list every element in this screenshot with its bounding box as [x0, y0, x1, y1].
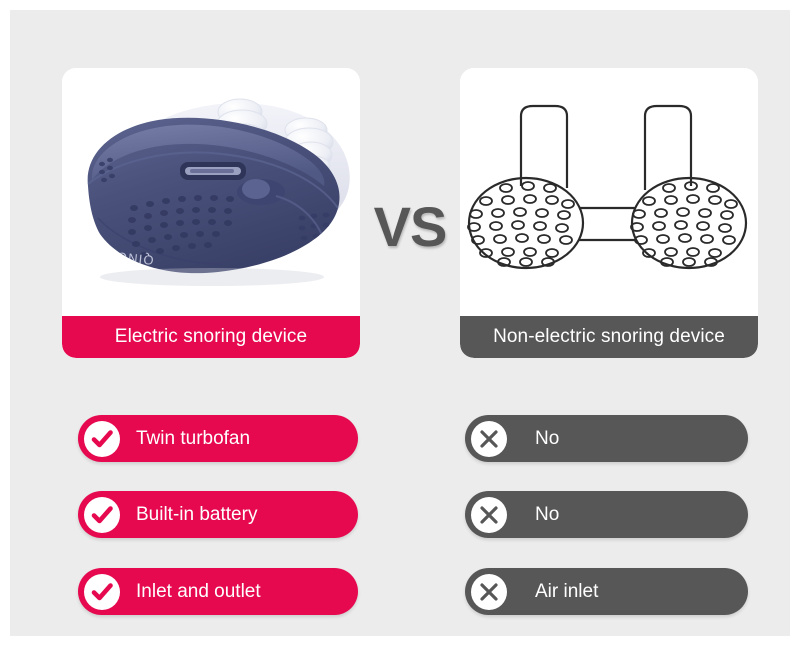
product-card-non-electric: Non-electric snoring device: [460, 68, 758, 358]
check-circle-icon: [84, 497, 120, 533]
check-circle-icon: [84, 574, 120, 610]
canvas: QINCHANG Electric snoring device VS: [10, 10, 790, 636]
feature-label: Twin turbofan: [136, 428, 250, 450]
dilator-stem-left: [521, 106, 567, 188]
card-label-electric: Electric snoring device: [62, 316, 360, 358]
electric-device-image: QINCHANG: [62, 68, 360, 316]
non-electric-device-image: [460, 68, 758, 316]
feature-pill-electric-3[interactable]: Inlet and outlet: [78, 568, 358, 615]
cross-circle-icon: [471, 497, 507, 533]
device-usb-port: [180, 162, 246, 180]
electric-device-illustration: QINCHANG: [62, 68, 360, 316]
feature-label: Air inlet: [535, 581, 598, 603]
device-power-button: [237, 179, 285, 205]
product-card-electric: QINCHANG Electric snoring device: [62, 68, 360, 358]
feature-label: No: [535, 428, 559, 450]
nasal-dilator-illustration: [460, 68, 758, 316]
device-shadow: [100, 268, 324, 286]
comparison-infographic: QINCHANG Electric snoring device VS: [0, 0, 800, 646]
feature-label: Inlet and outlet: [136, 581, 261, 603]
feature-label: No: [535, 504, 559, 526]
feature-pill-non-electric-3[interactable]: Air inlet: [465, 568, 748, 615]
cross-circle-icon: [471, 421, 507, 457]
feature-label: Built-in battery: [136, 504, 257, 526]
cross-circle-icon: [471, 574, 507, 610]
vs-divider: VS: [370, 194, 450, 259]
feature-pill-electric-1[interactable]: Twin turbofan: [78, 415, 358, 462]
feature-pill-electric-2[interactable]: Built-in battery: [78, 491, 358, 538]
feature-pill-non-electric-1[interactable]: No: [465, 415, 748, 462]
card-label-non-electric: Non-electric snoring device: [460, 316, 758, 358]
feature-pill-non-electric-2[interactable]: No: [465, 491, 748, 538]
check-circle-icon: [84, 421, 120, 457]
